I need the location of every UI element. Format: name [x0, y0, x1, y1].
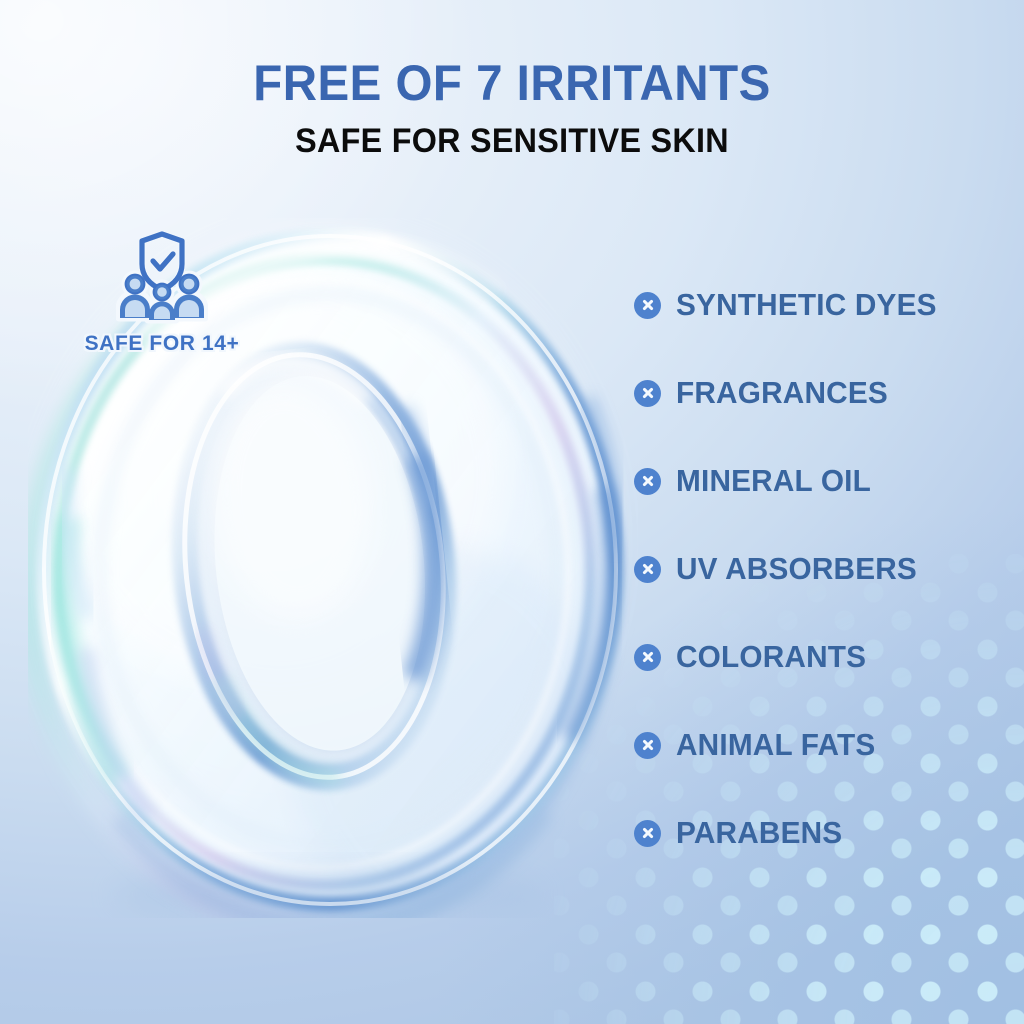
circle-x-icon [634, 732, 661, 759]
list-item: SYNTHETIC DYES [634, 283, 994, 327]
list-item: COLORANTS [634, 635, 994, 679]
page-subtitle: SAFE FOR SENSITIVE SKIN [26, 124, 999, 158]
circle-x-icon [634, 644, 661, 671]
list-item: MINERAL OIL [634, 459, 994, 503]
circle-x-icon [634, 556, 661, 583]
list-item: ANIMAL FATS [634, 723, 994, 767]
irritant-label: MINERAL OIL [676, 463, 871, 499]
irritant-label: ANIMAL FATS [676, 727, 875, 763]
circle-x-icon [634, 292, 661, 319]
irritant-list: SYNTHETIC DYES FRAGRANCES MINERAL OIL UV… [634, 283, 994, 855]
circle-x-icon [634, 468, 661, 495]
list-item: UV ABSORBERS [634, 547, 994, 591]
irritant-label: PARABENS [676, 815, 842, 851]
list-item: PARABENS [634, 811, 994, 855]
safe-for-badge-label: SAFE FOR 14+ [72, 332, 252, 356]
shield-check-family-icon [116, 228, 208, 324]
circle-x-icon [634, 380, 661, 407]
safe-for-badge: SAFE FOR 14+ [72, 228, 252, 356]
infographic-canvas: FREE OF 7 IRRITANTS SAFE FOR SENSITIVE S… [0, 0, 1024, 1024]
circle-x-icon [634, 820, 661, 847]
page-title: FREE OF 7 IRRITANTS [26, 58, 999, 108]
irritant-label: SYNTHETIC DYES [676, 287, 937, 323]
header-block: FREE OF 7 IRRITANTS SAFE FOR SENSITIVE S… [0, 58, 1024, 158]
irritant-label: COLORANTS [676, 639, 866, 675]
list-item: FRAGRANCES [634, 371, 994, 415]
irritant-label: UV ABSORBERS [676, 551, 917, 587]
irritant-label: FRAGRANCES [676, 375, 888, 411]
